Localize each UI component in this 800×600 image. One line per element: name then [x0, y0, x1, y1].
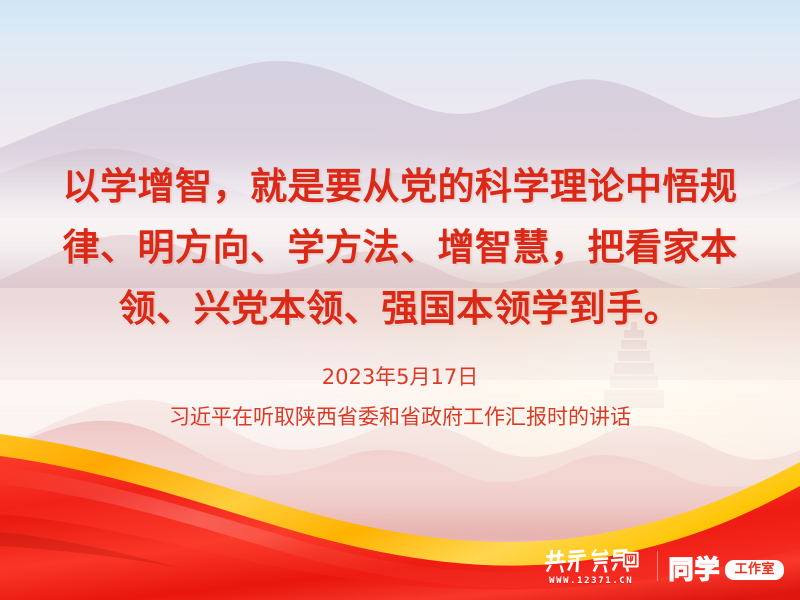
headline-line-3: 领、兴党本领、强国本领学到手。 — [0, 278, 800, 339]
poster-canvas: 以学增智，就是要从党的科学理论中悟规 律、明方向、学方法、增智慧，把看家本 领、… — [0, 0, 800, 600]
logo-12371-block[interactable]: WWW.12371.CN — [543, 548, 648, 586]
logo-divider — [657, 551, 658, 581]
footer-logo-bar: WWW.12371.CN 同学 工作室 — [543, 548, 784, 586]
logo-12371-url: WWW.12371.CN — [549, 576, 633, 586]
logo-tongxue-badge: 工作室 — [725, 560, 784, 580]
headline-line-2: 律、明方向、学方法、增智慧，把看家本 — [0, 217, 800, 278]
headline-quote: 以学增智，就是要从党的科学理论中悟规 律、明方向、学方法、增智慧，把看家本 领、… — [0, 156, 800, 339]
gongchandangyuan-wang-calligraphy-icon — [543, 548, 640, 574]
logo-tongxue-block[interactable]: 同学 工作室 — [668, 557, 784, 586]
subtitle-date: 2023年5月17日 — [0, 362, 800, 392]
headline-line-1: 以学增智，就是要从党的科学理论中悟规 — [0, 156, 800, 217]
logo-tongxue-name: 同学 — [668, 557, 720, 582]
